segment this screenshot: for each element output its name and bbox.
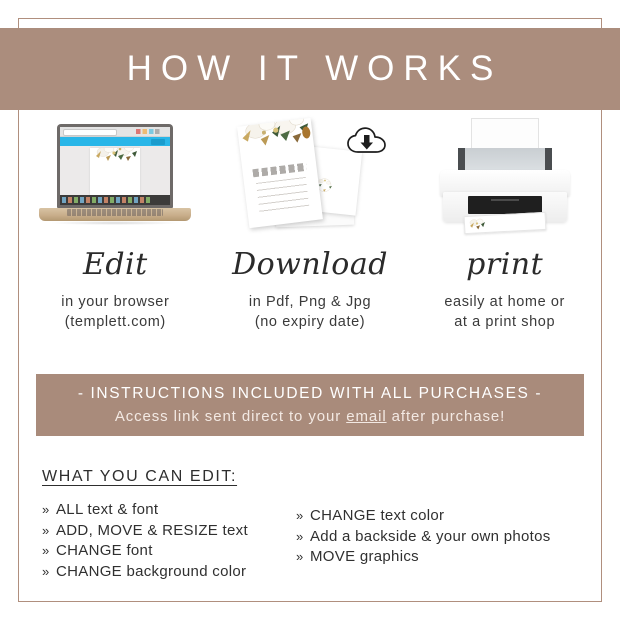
card-body-lines	[256, 177, 310, 217]
instructions-banner: - INSTRUCTIONS INCLUDED WITH ALL PURCHAS…	[36, 374, 584, 436]
step-edit-label: Edit	[83, 236, 148, 292]
laptop-shadow	[49, 221, 181, 225]
laptop-lid	[57, 124, 173, 208]
browser-chrome	[60, 127, 170, 137]
list-item-label: CHANGE font	[56, 541, 153, 562]
step-download-label: Download	[232, 236, 388, 292]
steps-row: Edit in your browser (templett.com)	[18, 118, 602, 350]
list-item-label: ADD, MOVE & RESIZE text	[56, 521, 248, 542]
step-download-caption-line2: (no expiry date)	[249, 312, 371, 332]
list-item-label: CHANGE text color	[310, 506, 444, 527]
chevron-right-icon: »	[42, 541, 56, 562]
list-item-label: CHANGE background color	[56, 562, 246, 583]
list-item: » ADD, MOVE & RESIZE text	[42, 521, 296, 542]
printed-invitation	[463, 212, 546, 234]
instructions-sub-before: Access link sent direct to your	[115, 408, 346, 425]
step-download-caption: in Pdf, Png & Jpg (no expiry date)	[249, 292, 371, 332]
step-download-artwork	[213, 118, 408, 236]
card-script-text	[252, 163, 307, 178]
list-item-label: Add a backside & your own photos	[310, 527, 551, 548]
chevron-right-icon: »	[42, 521, 56, 542]
laptop-keyboard-base	[39, 208, 191, 221]
instructions-sub-after: after purchase!	[387, 408, 506, 425]
step-download-caption-line1: in Pdf, Png & Jpg	[249, 292, 371, 312]
chevron-right-icon: »	[42, 500, 56, 521]
printer-icon	[430, 118, 580, 236]
header-banner: HOW IT WORKS	[0, 28, 620, 110]
floral-graphic-icon	[90, 148, 140, 167]
printer-output-slot	[468, 196, 542, 214]
step-edit: Edit in your browser (templett.com)	[18, 118, 213, 350]
invitation-preview	[90, 148, 140, 198]
laptop-dock	[60, 195, 170, 205]
list-item: » Add a backside & your own photos	[296, 527, 580, 548]
chevron-right-icon: »	[42, 562, 56, 583]
step-print-caption: easily at home or at a print shop	[444, 292, 565, 332]
instructions-title: - INSTRUCTIONS INCLUDED WITH ALL PURCHAS…	[78, 385, 542, 403]
laptop-screen	[60, 127, 170, 205]
list-item: » ALL text & font	[42, 500, 296, 521]
editor-canvas	[60, 146, 170, 195]
how-it-works-infographic: HOW IT WORKS	[0, 0, 620, 620]
step-edit-caption: in your browser (templett.com)	[61, 292, 169, 332]
list-item: » CHANGE background color	[42, 562, 296, 583]
list-item: » CHANGE font	[42, 541, 296, 562]
laptop-icon	[39, 124, 191, 236]
instructions-subtitle: Access link sent direct to your email af…	[115, 408, 505, 425]
floral-graphic-icon	[237, 118, 319, 161]
edit-list-right: » CHANGE text color » Add a backside & y…	[296, 500, 580, 582]
edit-section-columns: » ALL text & font » ADD, MOVE & RESIZE t…	[42, 500, 580, 582]
list-item-label: MOVE graphics	[310, 547, 419, 568]
step-print-caption-line2: at a print shop	[444, 312, 565, 332]
step-print-caption-line1: easily at home or	[444, 292, 565, 312]
list-item-label: ALL text & font	[56, 500, 158, 521]
floral-graphic-icon	[466, 217, 491, 233]
email-link[interactable]: email	[346, 408, 386, 425]
invitation-cards-icon	[235, 120, 385, 236]
step-download: Download in Pdf, Png & Jpg (no expiry da…	[213, 118, 408, 350]
chevron-right-icon: »	[296, 527, 310, 548]
chevron-right-icon: »	[296, 547, 310, 568]
browser-url-bar	[63, 129, 117, 136]
page-title: HOW IT WORKS	[118, 49, 503, 89]
step-print: print easily at home or at a print shop	[407, 118, 602, 350]
step-edit-caption-line2: (templett.com)	[61, 312, 169, 332]
card-front	[237, 118, 323, 228]
step-edit-caption-line1: in your browser	[61, 292, 169, 312]
step-print-artwork	[407, 118, 602, 236]
edit-list-left: » ALL text & font » ADD, MOVE & RESIZE t…	[42, 500, 296, 582]
list-item: » MOVE graphics	[296, 547, 580, 568]
step-edit-artwork	[18, 118, 213, 236]
chevron-right-icon: »	[296, 506, 310, 527]
list-item: » CHANGE text color	[296, 506, 580, 527]
browser-toolbar-icons	[136, 129, 168, 134]
edit-section-heading: WHAT YOU CAN EDIT:	[42, 468, 237, 486]
cloud-download-icon	[347, 126, 387, 156]
step-print-label: print	[466, 236, 543, 292]
